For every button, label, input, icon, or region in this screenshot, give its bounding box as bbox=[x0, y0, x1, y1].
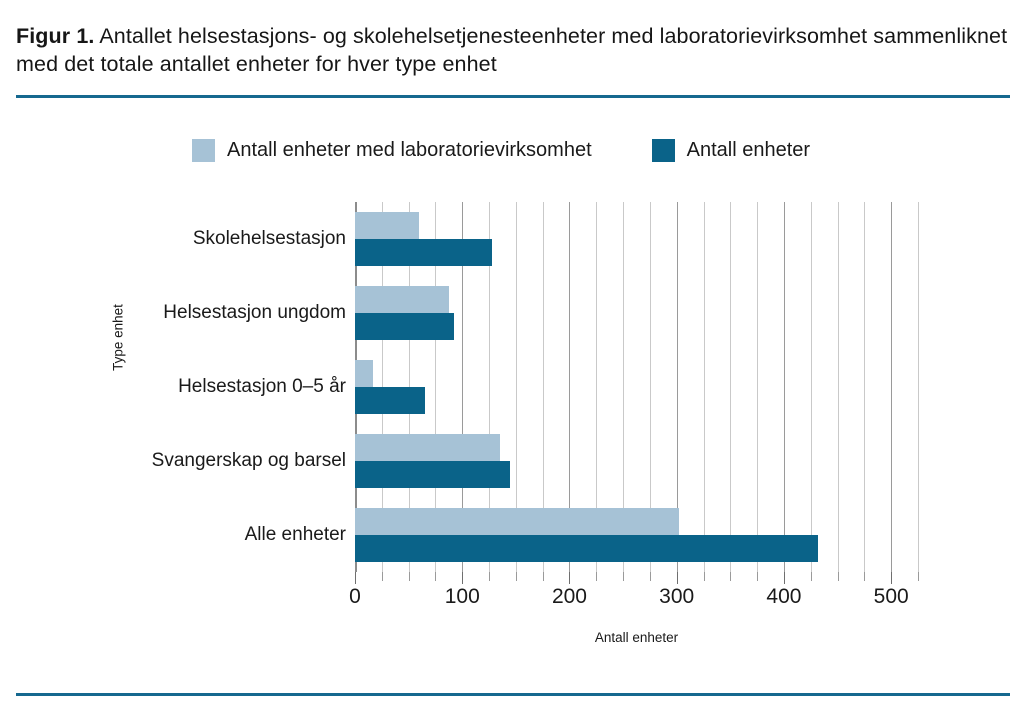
x-tick bbox=[435, 572, 436, 581]
x-axis-label-5: 500 bbox=[874, 585, 909, 609]
gridline bbox=[918, 202, 919, 572]
bar-0-0 bbox=[355, 212, 419, 239]
x-tick bbox=[596, 572, 597, 581]
y-axis-label-1: Helsestasjon ungdom bbox=[100, 302, 346, 324]
gridline bbox=[784, 202, 785, 572]
y-axis-label-3: Svangerskap og barsel bbox=[100, 450, 346, 472]
x-tick bbox=[730, 572, 731, 581]
legend-item-0[interactable]: Antall enheter med laboratorievirksomhet bbox=[192, 139, 592, 162]
x-tick bbox=[838, 572, 839, 581]
x-axis-label-4: 400 bbox=[766, 585, 801, 609]
x-axis-label-1: 100 bbox=[445, 585, 480, 609]
bar-4-0 bbox=[355, 508, 679, 535]
x-tick bbox=[355, 572, 356, 584]
gridline bbox=[757, 202, 758, 572]
bar-3-0 bbox=[355, 434, 500, 461]
bar-2-0 bbox=[355, 360, 373, 387]
x-tick bbox=[918, 572, 919, 581]
bar-1-0 bbox=[355, 286, 449, 313]
x-axis-label-2: 200 bbox=[552, 585, 587, 609]
x-tick bbox=[489, 572, 490, 581]
x-tick bbox=[569, 572, 570, 584]
x-tick bbox=[462, 572, 463, 584]
bar-1-1 bbox=[355, 313, 454, 340]
x-tick bbox=[784, 572, 785, 584]
x-tick bbox=[811, 572, 812, 581]
x-tick bbox=[650, 572, 651, 581]
x-tick bbox=[704, 572, 705, 581]
y-axis-category-labels: SkolehelsestasjonHelsestasjon ungdomHels… bbox=[100, 202, 346, 572]
x-tick bbox=[677, 572, 678, 584]
gridline bbox=[730, 202, 731, 572]
x-tick bbox=[382, 572, 383, 581]
chart-legend: Antall enheter med laboratorievirksomhet… bbox=[192, 139, 810, 162]
x-axis-title: Antall enheter bbox=[355, 630, 918, 645]
x-tick bbox=[543, 572, 544, 581]
x-tick bbox=[757, 572, 758, 581]
bar-3-1 bbox=[355, 461, 510, 488]
gridline bbox=[838, 202, 839, 572]
x-tick bbox=[623, 572, 624, 581]
chart: Antall enheter med laboratorievirksomhet… bbox=[0, 0, 1024, 716]
legend-label: Antall enheter bbox=[687, 139, 810, 162]
legend-item-1[interactable]: Antall enheter bbox=[652, 139, 810, 162]
y-axis-label-4: Alle enheter bbox=[100, 524, 346, 546]
x-tick bbox=[864, 572, 865, 581]
bar-2-1 bbox=[355, 387, 425, 414]
x-axis-ticks bbox=[355, 572, 918, 584]
gridline bbox=[891, 202, 892, 572]
gridline bbox=[704, 202, 705, 572]
legend-swatch-icon bbox=[652, 139, 675, 162]
legend-label: Antall enheter med laboratorievirksomhet bbox=[227, 139, 592, 162]
x-axis-label-0: 0 bbox=[349, 585, 361, 609]
x-tick bbox=[409, 572, 410, 581]
plot-area bbox=[355, 202, 918, 572]
legend-swatch-icon bbox=[192, 139, 215, 162]
x-axis-tick-labels: 0100200300400500 bbox=[355, 585, 918, 613]
gridline bbox=[864, 202, 865, 572]
x-tick bbox=[516, 572, 517, 581]
x-tick bbox=[891, 572, 892, 584]
gridline bbox=[811, 202, 812, 572]
x-axis-label-3: 300 bbox=[659, 585, 694, 609]
bar-0-1 bbox=[355, 239, 492, 266]
y-axis-label-2: Helsestasjon 0–5 år bbox=[100, 376, 346, 398]
bar-4-1 bbox=[355, 535, 818, 562]
y-axis-label-0: Skolehelsestasjon bbox=[100, 228, 346, 250]
